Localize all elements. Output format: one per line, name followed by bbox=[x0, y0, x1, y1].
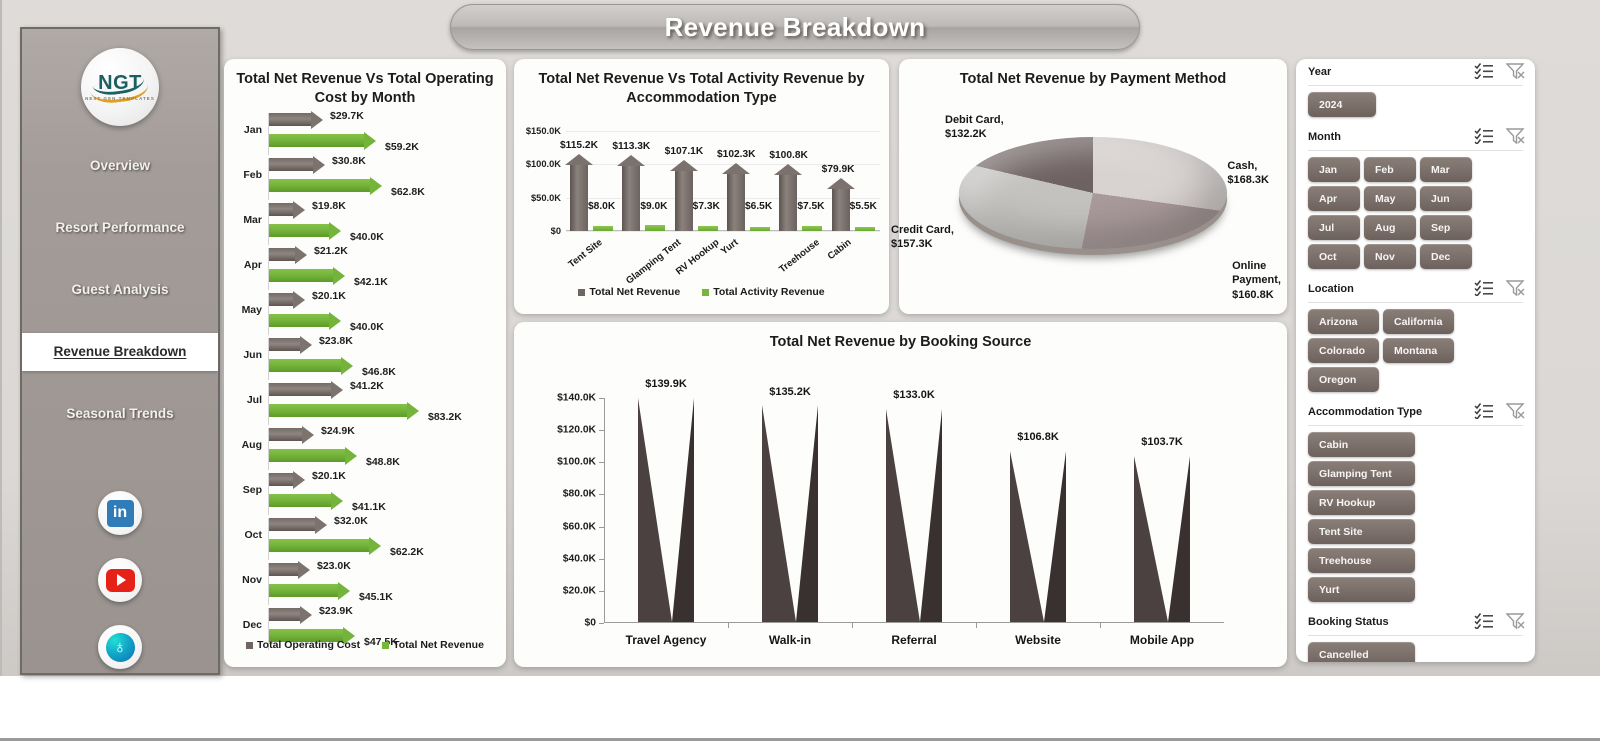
month-row: Aug$24.9K$48.8K bbox=[224, 426, 506, 471]
pie-slice-label: OnlinePayment,$160.8K bbox=[1232, 259, 1281, 302]
operating-cost-value: $29.7K bbox=[330, 110, 364, 122]
activity-revenue-bar bbox=[802, 226, 822, 231]
month-row: May$20.1K$40.0K bbox=[224, 291, 506, 336]
activity-revenue-data-label: $5.5K bbox=[850, 201, 877, 212]
linkedin-icon[interactable]: in bbox=[98, 491, 142, 535]
net-revenue-up-arrow bbox=[570, 154, 588, 231]
month-axis-label: Feb bbox=[232, 169, 262, 181]
net-revenue-arrow bbox=[269, 404, 419, 417]
net-revenue-value: $83.2K bbox=[428, 411, 462, 423]
booking-x-label: Website bbox=[983, 633, 1093, 647]
booking-y-tick: $100.0K bbox=[557, 457, 596, 468]
legend-label: Total Operating Cost bbox=[257, 639, 360, 651]
chart-legend-month: Total Operating CostTotal Net Revenue bbox=[224, 639, 506, 651]
slicer-header: Accommodation Type bbox=[1308, 399, 1523, 425]
globe-glyph: ♁ bbox=[106, 633, 135, 662]
booking-data-label: $103.7K bbox=[1122, 436, 1202, 448]
slicer-option-dec[interactable]: Dec bbox=[1420, 244, 1472, 269]
booking-tick-mark bbox=[599, 623, 604, 624]
multi-select-icon bbox=[1474, 279, 1494, 296]
legend-label: Total Net Revenue bbox=[589, 286, 680, 298]
month-row: Feb$30.8K$62.8K bbox=[224, 156, 506, 201]
slicer-option-may[interactable]: May bbox=[1364, 186, 1416, 211]
net-revenue-up-arrow bbox=[832, 178, 850, 231]
activity-revenue-data-label: $9.0K bbox=[640, 201, 667, 212]
month-axis-label: Nov bbox=[232, 574, 262, 586]
slicer-header: Year bbox=[1308, 59, 1523, 85]
booking-x-label: Travel Agency bbox=[611, 633, 721, 647]
net-revenue-arrow bbox=[269, 134, 376, 147]
sidebar-item-label: Seasonal Trends bbox=[66, 406, 173, 421]
booking-cone bbox=[638, 397, 694, 622]
accommodation-column bbox=[775, 131, 827, 231]
net-revenue-value: $42.1K bbox=[354, 276, 388, 288]
operating-cost-value: $21.2K bbox=[314, 245, 348, 257]
operating-cost-arrow bbox=[269, 608, 312, 621]
slicer-option-cabin[interactable]: Cabin bbox=[1308, 432, 1415, 457]
slicer-title: Location bbox=[1308, 283, 1354, 295]
booking-y-axis bbox=[604, 398, 605, 623]
legend-item: Total Net Revenue bbox=[578, 286, 680, 298]
legend-item: Total Activity Revenue bbox=[702, 286, 824, 298]
activity-revenue-bar bbox=[698, 226, 718, 231]
chart-title-booking: Total Net Revenue by Booking Source bbox=[514, 322, 1287, 352]
booking-y-tick: $80.0K bbox=[563, 489, 596, 500]
accommodation-column bbox=[828, 131, 880, 231]
net-revenue-value: $40.0K bbox=[350, 321, 384, 333]
operating-cost-arrow bbox=[269, 563, 310, 576]
month-row: Oct$32.0K$62.2K bbox=[224, 516, 506, 561]
booking-tick-mark bbox=[599, 462, 604, 463]
booking-data-label: $139.9K bbox=[626, 378, 706, 390]
slicer-option-glamping-tent[interactable]: Glamping Tent bbox=[1308, 461, 1415, 486]
booking-data-label: $106.8K bbox=[998, 431, 1078, 443]
chart-card-month: Total Net Revenue Vs Total Operating Cos… bbox=[224, 59, 506, 667]
slicer-header-icons bbox=[1474, 279, 1526, 297]
multi-select-icon[interactable] bbox=[1474, 612, 1494, 630]
month-axis-label: May bbox=[232, 304, 262, 316]
slicer-header: Month bbox=[1308, 124, 1523, 150]
payment-pie-plot: Cash,$168.3KOnlinePayment,$160.8KCredit … bbox=[959, 137, 1227, 259]
booking-cone bbox=[1010, 450, 1066, 622]
operating-cost-value: $23.8K bbox=[319, 335, 353, 347]
chart-title-accommodation: Total Net Revenue Vs Total Activity Reve… bbox=[514, 59, 889, 109]
multi-select-icon bbox=[1474, 402, 1494, 419]
month-axis-label: Jan bbox=[232, 124, 262, 136]
clear-filter-icon bbox=[1506, 402, 1526, 420]
youtube-icon[interactable] bbox=[98, 558, 142, 602]
operating-cost-value: $41.2K bbox=[350, 380, 384, 392]
net-revenue-arrow bbox=[269, 269, 345, 282]
slicer-option-feb[interactable]: Feb bbox=[1364, 157, 1416, 182]
sidebar-nav: OverviewResort PerformanceGuest Analysis… bbox=[22, 147, 218, 457]
slicer-header-icons bbox=[1474, 612, 1526, 630]
net-revenue-value: $45.1K bbox=[359, 591, 393, 603]
net-revenue-arrow bbox=[269, 314, 341, 327]
sidebar-item-label: Resort Performance bbox=[55, 220, 184, 235]
website-icon[interactable]: ♁ bbox=[98, 625, 142, 669]
chart-title-payment: Total Net Revenue by Payment Method bbox=[899, 59, 1287, 89]
sidebar-item-label: Revenue Breakdown bbox=[54, 344, 187, 359]
slicer-items: 2024 bbox=[1296, 92, 1535, 124]
slicer-option-oct[interactable]: Oct bbox=[1308, 244, 1360, 269]
month-row: Jun$23.8K$46.8K bbox=[224, 336, 506, 381]
net-revenue-value: $62.2K bbox=[390, 546, 424, 558]
sidebar-item-guest-analysis[interactable]: Guest Analysis bbox=[22, 271, 218, 309]
sidebar: NGT NEXT GEN TEMPLATES OverviewResort Pe… bbox=[20, 27, 220, 675]
booking-x-label: Mobile App bbox=[1107, 633, 1217, 647]
operating-cost-arrow bbox=[269, 473, 305, 486]
sidebar-item-seasonal-trends[interactable]: Seasonal Trends bbox=[22, 395, 218, 433]
net-revenue-arrow bbox=[269, 449, 357, 462]
ngt-logo: NGT NEXT GEN TEMPLATES bbox=[81, 48, 159, 126]
slicer-header-icons bbox=[1474, 62, 1526, 80]
slicer-header: Location bbox=[1308, 276, 1523, 302]
booking-axis-separator bbox=[852, 623, 853, 628]
activity-revenue-bar bbox=[855, 227, 875, 231]
slicer-title: Month bbox=[1308, 131, 1341, 143]
net-revenue-data-label: $115.2K bbox=[560, 140, 598, 151]
chart-card-booking: Total Net Revenue by Booking Source $0$2… bbox=[514, 322, 1287, 667]
operating-cost-value: $23.9K bbox=[319, 605, 353, 617]
month-axis-label: Jun bbox=[232, 349, 262, 361]
month-axis-label: Mar bbox=[232, 214, 262, 226]
legend-swatch bbox=[246, 642, 253, 649]
month-axis-label: Aug bbox=[232, 439, 262, 451]
slicer-divider bbox=[1308, 85, 1523, 86]
booking-y-tick: $0 bbox=[585, 618, 596, 629]
slicer-option-rv-hookup[interactable]: RV Hookup bbox=[1308, 490, 1415, 515]
slicer-option-apr[interactable]: Apr bbox=[1308, 186, 1360, 211]
clear-filter-icon[interactable] bbox=[1506, 279, 1526, 297]
youtube-glyph bbox=[106, 569, 135, 592]
pie-top bbox=[959, 137, 1227, 249]
slicer-option-mar[interactable]: Mar bbox=[1420, 157, 1472, 182]
month-axis-label: Oct bbox=[232, 529, 262, 541]
pie-slice-label: Debit Card,$132.2K bbox=[945, 113, 1004, 142]
slicer-divider bbox=[1308, 302, 1523, 303]
clear-filter-icon bbox=[1506, 127, 1526, 145]
slicer-option-aug[interactable]: Aug bbox=[1364, 215, 1416, 240]
slicer-divider bbox=[1308, 150, 1523, 151]
net-revenue-data-label: $102.3K bbox=[717, 149, 756, 160]
multi-select-icon[interactable] bbox=[1474, 279, 1494, 297]
accommodation-y-tick: $150.0K bbox=[526, 126, 561, 136]
net-revenue-arrow bbox=[269, 539, 381, 552]
net-revenue-data-label: $107.1K bbox=[665, 146, 704, 157]
multi-select-icon[interactable] bbox=[1474, 402, 1494, 420]
slicer-option-arizona[interactable]: Arizona bbox=[1308, 309, 1379, 334]
accommodation-y-tick: $0 bbox=[551, 226, 561, 236]
net-revenue-value: $41.1K bbox=[352, 501, 386, 513]
booking-tick-mark bbox=[599, 430, 604, 431]
month-row: Jan$29.7K$59.2K bbox=[224, 111, 506, 156]
booking-y-tick: $40.0K bbox=[563, 553, 596, 564]
booking-axis-separator bbox=[728, 623, 729, 628]
month-row: Sep$20.1K$41.1K bbox=[224, 471, 506, 516]
booking-y-tick: $60.0K bbox=[563, 521, 596, 532]
activity-revenue-bar bbox=[593, 226, 613, 231]
accommodation-x-label: Treehouse bbox=[778, 237, 823, 275]
slicer-option-2024[interactable]: 2024 bbox=[1308, 92, 1376, 117]
booking-tick-mark bbox=[599, 591, 604, 592]
accommodation-chart-plot: $0$50.0K$100.0K$150.0K$115.2K$8.0KTent S… bbox=[566, 131, 880, 231]
dashboard-canvas: NGT NEXT GEN TEMPLATES OverviewResort Pe… bbox=[0, 0, 1600, 741]
accommodation-gridline bbox=[566, 231, 880, 232]
accommodation-x-label: Glamping Tent bbox=[624, 237, 683, 287]
clear-filter-icon[interactable] bbox=[1506, 62, 1526, 80]
clear-filter-icon[interactable] bbox=[1506, 612, 1526, 630]
pie-slice-label: Cash,$168.3K bbox=[1227, 159, 1269, 188]
slicer-title: Booking Status bbox=[1308, 616, 1389, 628]
month-axis-label: Dec bbox=[232, 619, 262, 631]
page-footer-strip bbox=[0, 676, 1600, 741]
net-revenue-up-arrow bbox=[779, 164, 797, 231]
accommodation-y-tick: $50.0K bbox=[531, 193, 561, 203]
booking-tick-mark bbox=[599, 494, 604, 495]
month-axis-label: Sep bbox=[232, 484, 262, 496]
accommodation-x-label: Cabin bbox=[825, 237, 853, 262]
accommodation-x-label: Tent Site bbox=[566, 237, 604, 270]
sidebar-item-overview[interactable]: Overview bbox=[22, 147, 218, 185]
net-revenue-up-arrow bbox=[622, 155, 640, 231]
net-revenue-data-label: $100.8K bbox=[769, 150, 808, 161]
booking-chart-plot: $0$20.0K$40.0K$60.0K$80.0K$100.0K$120.0K… bbox=[604, 398, 1224, 623]
operating-cost-value: $20.1K bbox=[312, 470, 346, 482]
net-revenue-arrow bbox=[269, 584, 350, 597]
slicer-option-oregon[interactable]: Oregon bbox=[1308, 367, 1379, 392]
net-revenue-up-arrow bbox=[727, 163, 745, 231]
month-row: Nov$23.0K$45.1K bbox=[224, 561, 506, 606]
operating-cost-arrow bbox=[269, 518, 327, 531]
clear-filter-icon[interactable] bbox=[1506, 127, 1526, 145]
booking-data-label: $135.2K bbox=[750, 386, 830, 398]
operating-cost-value: $32.0K bbox=[334, 515, 368, 527]
legend-item: Total Net Revenue bbox=[382, 639, 484, 651]
operating-cost-arrow bbox=[269, 203, 305, 216]
operating-cost-value: $30.8K bbox=[332, 155, 366, 167]
legend-swatch bbox=[702, 289, 709, 296]
net-revenue-arrow bbox=[269, 179, 382, 192]
slicer-option-treehouse[interactable]: Treehouse bbox=[1308, 548, 1415, 573]
operating-cost-value: $20.1K bbox=[312, 290, 346, 302]
chart-title-month: Total Net Revenue Vs Total Operating Cos… bbox=[224, 59, 506, 109]
slicer-option-sep[interactable]: Sep bbox=[1420, 215, 1472, 240]
net-revenue-data-label: $79.9K bbox=[822, 164, 855, 175]
slicer-header-icons bbox=[1474, 402, 1526, 420]
multi-select-icon bbox=[1474, 612, 1494, 629]
logo-subtext: NEXT GEN TEMPLATES bbox=[85, 96, 155, 101]
slicer-option-yurt[interactable]: Yurt bbox=[1308, 577, 1415, 602]
accommodation-x-label: Yurt bbox=[719, 237, 740, 257]
activity-revenue-data-label: $7.5K bbox=[797, 201, 824, 212]
slicer-option-colorado[interactable]: Colorado bbox=[1308, 338, 1379, 363]
slicer-option-tent-site[interactable]: Tent Site bbox=[1308, 519, 1415, 544]
activity-revenue-data-label: $8.0K bbox=[588, 201, 615, 212]
booking-tick-mark bbox=[599, 559, 604, 560]
booking-tick-mark bbox=[599, 398, 604, 399]
slicer-option-jul[interactable]: Jul bbox=[1308, 215, 1360, 240]
booking-x-axis bbox=[604, 622, 1224, 623]
net-revenue-value: $40.0K bbox=[350, 231, 384, 243]
month-row: Jul$41.2K$83.2K bbox=[224, 381, 506, 426]
net-revenue-arrow bbox=[269, 494, 343, 507]
net-revenue-arrow bbox=[269, 359, 353, 372]
multi-select-icon bbox=[1474, 62, 1494, 79]
net-revenue-up-arrow bbox=[675, 160, 693, 231]
operating-cost-arrow bbox=[269, 113, 323, 126]
month-row: Mar$19.8K$40.0K bbox=[224, 201, 506, 246]
booking-x-label: Referral bbox=[859, 633, 969, 647]
month-chart-plot: Jan$29.7K$59.2KFeb$30.8K$62.8KMar$19.8K$… bbox=[224, 111, 506, 651]
legend-swatch bbox=[578, 289, 585, 296]
clear-filter-icon bbox=[1506, 62, 1526, 80]
operating-cost-arrow bbox=[269, 338, 312, 351]
operating-cost-arrow bbox=[269, 293, 305, 306]
net-revenue-value: $59.2K bbox=[385, 141, 419, 153]
slicer-divider bbox=[1308, 425, 1523, 426]
clear-filter-icon[interactable] bbox=[1506, 402, 1526, 420]
filter-panel: Year2024MonthJanFebMarAprMayJunJulAugSep… bbox=[1296, 59, 1535, 662]
sidebar-item-revenue-breakdown[interactable]: Revenue Breakdown bbox=[22, 333, 218, 371]
net-revenue-arrow bbox=[269, 224, 341, 237]
slicer-option-montana[interactable]: Montana bbox=[1383, 338, 1454, 363]
accommodation-y-tick: $100.0K bbox=[526, 159, 561, 169]
net-revenue-value: $62.8K bbox=[391, 186, 425, 198]
month-axis-label: Apr bbox=[232, 259, 262, 271]
month-axis-label: Jul bbox=[232, 394, 262, 406]
logo-text: NGT bbox=[98, 73, 142, 93]
booking-y-tick: $120.0K bbox=[557, 425, 596, 436]
booking-cone bbox=[762, 405, 818, 622]
clear-filter-icon bbox=[1506, 279, 1526, 297]
linkedin-glyph: in bbox=[107, 500, 134, 527]
slicer-title: Accommodation Type bbox=[1308, 406, 1422, 418]
header-banner: Revenue Breakdown bbox=[450, 4, 1140, 50]
month-row: Apr$21.2K$42.1K bbox=[224, 246, 506, 291]
slicer-title: Year bbox=[1308, 66, 1331, 78]
legend-swatch bbox=[382, 642, 389, 649]
page-title: Revenue Breakdown bbox=[665, 12, 926, 43]
multi-select-icon bbox=[1474, 127, 1494, 144]
booking-x-label: Walk-in bbox=[735, 633, 845, 647]
booking-data-label: $133.0K bbox=[874, 389, 954, 401]
activity-revenue-data-label: $7.3K bbox=[693, 201, 720, 212]
legend-item: Total Operating Cost bbox=[246, 639, 360, 651]
chart-legend-accommodation: Total Net RevenueTotal Activity Revenue bbox=[514, 286, 889, 298]
booking-cone bbox=[886, 408, 942, 622]
activity-revenue-bar bbox=[645, 225, 665, 231]
slicer-option-jan[interactable]: Jan bbox=[1308, 157, 1360, 182]
activity-revenue-data-label: $6.5K bbox=[745, 201, 772, 212]
slicer-items: JanFebMarAprMayJunJulAugSepOctNovDec bbox=[1296, 157, 1535, 276]
clear-filter-icon bbox=[1506, 612, 1526, 630]
sidebar-item-label: Guest Analysis bbox=[71, 282, 168, 297]
slicer-divider bbox=[1308, 635, 1523, 636]
operating-cost-value: $23.0K bbox=[317, 560, 351, 572]
slicer-option-jun[interactable]: Jun bbox=[1420, 186, 1472, 211]
slicer-items: ArizonaCaliforniaColoradoMontanaOregon bbox=[1296, 309, 1535, 399]
chart-card-payment: Total Net Revenue by Payment Method Cash… bbox=[899, 59, 1287, 314]
slicer-items: CabinGlamping TentRV HookupTent SiteTree… bbox=[1296, 432, 1535, 609]
sidebar-item-label: Overview bbox=[90, 158, 150, 173]
net-revenue-value: $48.8K bbox=[366, 456, 400, 468]
activity-revenue-bar bbox=[750, 227, 770, 231]
slicer-items: CancelledCompletedConfirmedNo Show bbox=[1296, 642, 1535, 662]
booking-y-tick: $20.0K bbox=[563, 585, 596, 596]
booking-axis-separator bbox=[976, 623, 977, 628]
slicer-option-california[interactable]: California bbox=[1383, 309, 1454, 334]
social-links: in♁ bbox=[22, 491, 218, 675]
legend-label: Total Activity Revenue bbox=[713, 286, 824, 298]
operating-cost-arrow bbox=[269, 428, 314, 441]
sidebar-item-resort-performance[interactable]: Resort Performance bbox=[22, 209, 218, 247]
operating-cost-arrow bbox=[269, 383, 343, 396]
slicer-header-icons bbox=[1474, 127, 1526, 145]
booking-cone bbox=[1134, 455, 1190, 622]
slicer-header: Booking Status bbox=[1308, 609, 1523, 635]
slicer-option-cancelled[interactable]: Cancelled bbox=[1308, 642, 1415, 662]
multi-select-icon[interactable] bbox=[1474, 127, 1494, 145]
net-revenue-value: $46.8K bbox=[362, 366, 396, 378]
multi-select-icon[interactable] bbox=[1474, 62, 1494, 80]
slicer-option-nov[interactable]: Nov bbox=[1364, 244, 1416, 269]
accommodation-column bbox=[723, 131, 775, 231]
booking-tick-mark bbox=[599, 527, 604, 528]
operating-cost-arrow bbox=[269, 158, 325, 171]
legend-label: Total Net Revenue bbox=[393, 639, 484, 651]
booking-y-tick: $140.0K bbox=[557, 393, 596, 404]
booking-axis-separator bbox=[1100, 623, 1101, 628]
operating-cost-arrow bbox=[269, 248, 307, 261]
operating-cost-value: $24.9K bbox=[321, 425, 355, 437]
net-revenue-data-label: $113.3K bbox=[612, 141, 650, 152]
pie-slice-label: Credit Card,$157.3K bbox=[891, 223, 954, 252]
chart-card-accommodation: Total Net Revenue Vs Total Activity Reve… bbox=[514, 59, 889, 314]
operating-cost-value: $19.8K bbox=[312, 200, 346, 212]
